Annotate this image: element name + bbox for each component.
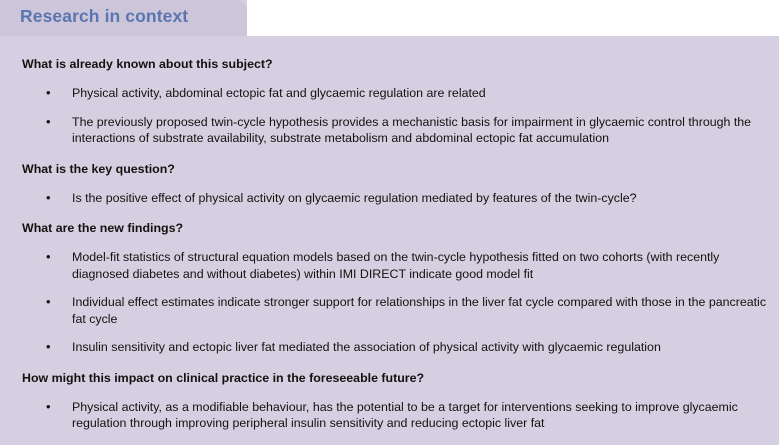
bullet-list: •Physical activity, as a modifiable beha… xyxy=(0,386,779,432)
content-section: What is already known about this subject… xyxy=(0,56,779,147)
bullet-dot-icon: • xyxy=(46,249,51,266)
bullet-dot-icon: • xyxy=(46,339,51,356)
content-section: What is the key question?•Is the positiv… xyxy=(0,161,779,207)
list-item: •The previously proposed twin-cycle hypo… xyxy=(0,114,779,147)
section-heading: What is the key question? xyxy=(0,161,779,177)
list-item: •Is the positive effect of physical acti… xyxy=(0,190,779,207)
list-item: •Insulin sensitivity and ectopic liver f… xyxy=(0,339,779,356)
list-item: •Physical activity, abdominal ectopic fa… xyxy=(0,85,779,102)
vertical-spacer xyxy=(0,147,779,161)
vertical-spacer xyxy=(0,386,779,399)
list-item-text: Model-fit statistics of structural equat… xyxy=(72,250,719,281)
list-item-text: Insulin sensitivity and ectopic liver fa… xyxy=(72,340,661,354)
bullet-dot-icon: • xyxy=(46,85,51,102)
header-notch-spacer xyxy=(247,0,779,36)
section-heading: What are the new findings? xyxy=(0,220,779,236)
bullet-dot-icon: • xyxy=(46,399,51,416)
section-heading: How might this impact on clinical practi… xyxy=(0,370,779,386)
list-item-text: The previously proposed twin-cycle hypot… xyxy=(72,115,751,146)
bullet-dot-icon: • xyxy=(46,190,51,207)
research-in-context-panel: Research in context What is already know… xyxy=(0,0,779,445)
vertical-spacer xyxy=(0,72,779,85)
list-item: •Individual effect estimates indicate st… xyxy=(0,294,779,327)
panel-header-tab: Research in context xyxy=(0,0,247,36)
list-item: •Model-fit statistics of structural equa… xyxy=(0,249,779,282)
bullet-list: •Model-fit statistics of structural equa… xyxy=(0,236,779,356)
content-section: What are the new findings?•Model-fit sta… xyxy=(0,220,779,356)
list-item: •Physical activity, as a modifiable beha… xyxy=(0,399,779,432)
list-item-text: Physical activity, abdominal ectopic fat… xyxy=(72,86,486,100)
vertical-spacer xyxy=(0,282,779,294)
section-heading: What is already known about this subject… xyxy=(0,56,779,72)
bullet-list: •Physical activity, abdominal ectopic fa… xyxy=(0,72,779,147)
panel-title: Research in context xyxy=(20,6,188,27)
bullet-list: •Is the positive effect of physical acti… xyxy=(0,177,779,207)
list-item-text: Individual effect estimates indicate str… xyxy=(72,295,766,326)
bullet-dot-icon: • xyxy=(46,294,51,311)
vertical-spacer xyxy=(0,236,779,249)
panel-content: What is already known about this subject… xyxy=(0,36,779,445)
vertical-spacer xyxy=(0,36,779,56)
vertical-spacer xyxy=(0,102,779,114)
vertical-spacer xyxy=(0,206,779,220)
list-item-text: Physical activity, as a modifiable behav… xyxy=(72,400,738,431)
vertical-spacer xyxy=(0,356,779,370)
bullet-dot-icon: • xyxy=(46,114,51,131)
content-section: How might this impact on clinical practi… xyxy=(0,370,779,432)
vertical-spacer xyxy=(0,177,779,190)
vertical-spacer xyxy=(0,327,779,339)
list-item-text: Is the positive effect of physical activ… xyxy=(72,191,637,205)
